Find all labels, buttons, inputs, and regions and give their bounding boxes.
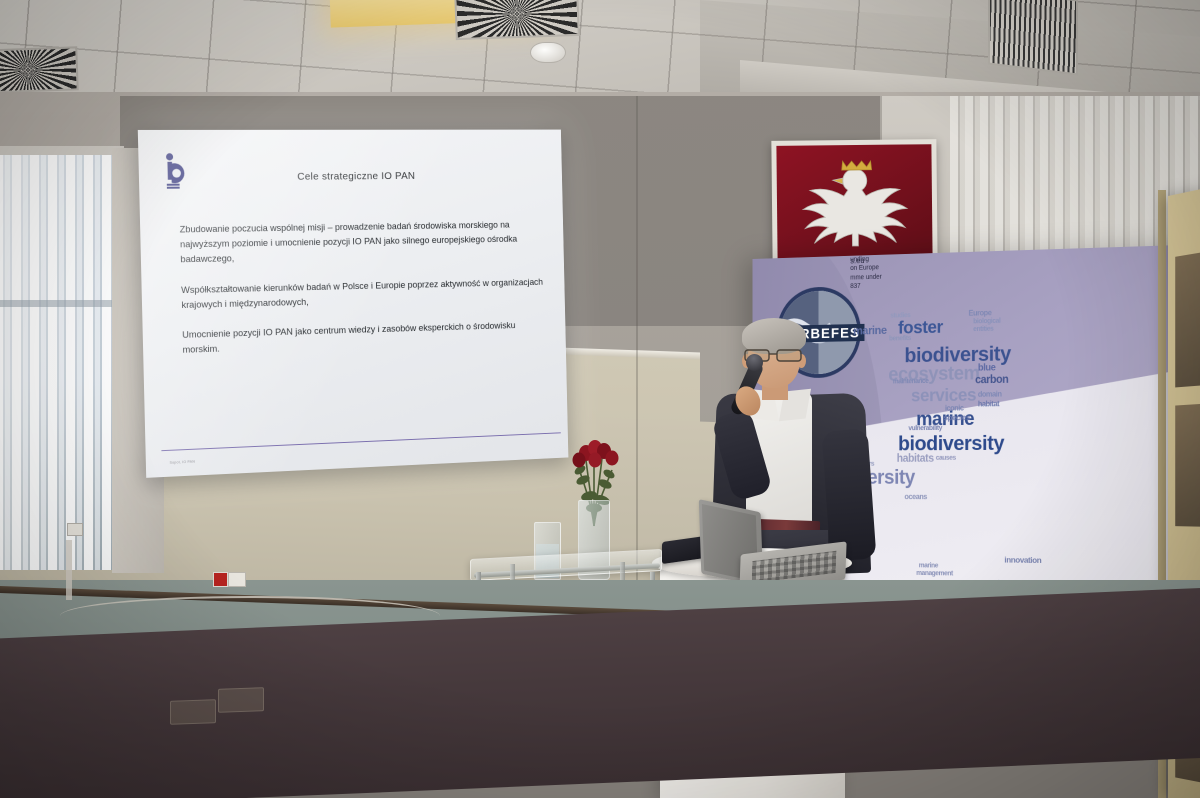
word-cloud-term: causes xyxy=(936,454,956,461)
ventilation-grille-icon xyxy=(988,0,1078,76)
polish-coat-of-arms xyxy=(771,139,937,266)
conference-photo-scene: Cele strategiczne IO PAN Zbudowanie pocz… xyxy=(0,0,1200,798)
blind-headrail xyxy=(0,146,124,155)
word-cloud-term: services xyxy=(911,387,976,406)
emblem-red-field xyxy=(776,144,932,261)
funding-line: 837 xyxy=(850,282,881,292)
word-cloud-term: domain xyxy=(978,391,1002,399)
wall-outlet xyxy=(67,523,83,536)
projected-slide: Cele strategiczne IO PAN Zbudowanie pocz… xyxy=(138,130,569,478)
ventilation-grille-icon xyxy=(454,0,580,40)
ventilation-grille-icon xyxy=(0,46,79,93)
word-cloud-term: vulnerability xyxy=(908,424,942,431)
word-cloud-term: studies xyxy=(890,311,910,318)
poster-photo xyxy=(1175,252,1200,387)
screen-glare xyxy=(138,130,569,478)
word-cloud-term: blue xyxy=(978,363,996,373)
word-cloud-term: habitats xyxy=(897,454,934,465)
word-cloud-term: innovation xyxy=(1004,556,1041,565)
word-cloud-term: carbon xyxy=(975,375,1008,387)
word-cloud-term: oceans xyxy=(905,494,927,502)
word-cloud-term: habitat xyxy=(978,400,999,408)
wall-cable xyxy=(66,540,72,600)
window-mullion xyxy=(0,300,116,307)
word-cloud-term: biodiversity xyxy=(898,432,1004,453)
smoke-detector-icon xyxy=(530,42,566,63)
word-cloud-term: management xyxy=(916,569,953,576)
funding-line: mme under xyxy=(850,273,881,283)
right-arm xyxy=(822,429,877,562)
white-eagle-icon xyxy=(779,150,930,260)
wall-seam xyxy=(636,96,638,596)
word-cloud-term: iconic xyxy=(945,404,964,412)
word-cloud-term: species xyxy=(944,414,970,423)
floor-box xyxy=(170,699,216,725)
window-daylight-glow xyxy=(0,150,116,570)
wall-outlet[interactable] xyxy=(228,572,246,587)
word-cloud-term: maintenance xyxy=(893,377,929,384)
word-cloud-term: entities xyxy=(973,325,993,332)
projection-screen: Cele strategiczne IO PAN Zbudowanie pocz… xyxy=(138,130,569,478)
poster-photo xyxy=(1175,404,1200,527)
word-cloud-term: benefits xyxy=(889,335,911,342)
floor-box xyxy=(218,687,264,713)
red-power-socket[interactable] xyxy=(213,572,228,587)
